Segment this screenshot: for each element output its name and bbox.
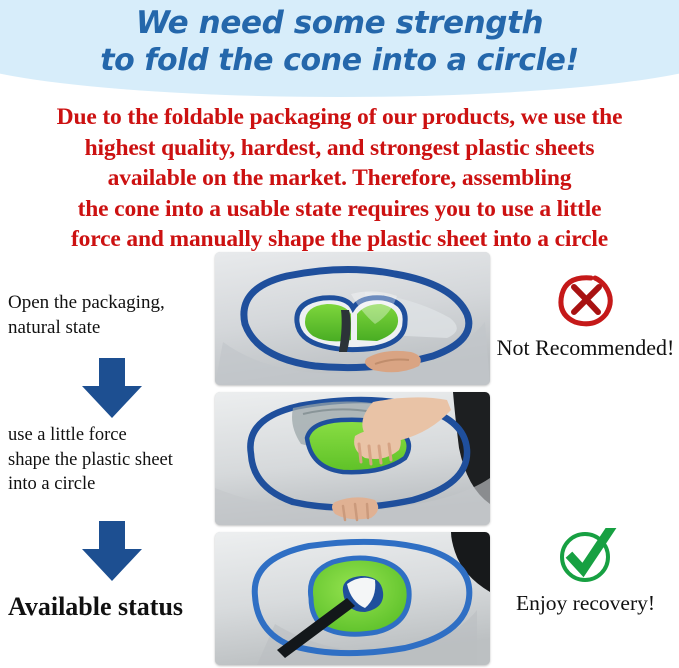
verdict-enjoy-recovery: Enjoy recovery!	[492, 528, 679, 617]
step-1-label-line-2: natural state	[8, 315, 213, 340]
verdict-not-recommended-label: Not Recommended!	[492, 334, 679, 361]
intro-line-3: available on the market. Therefore, asse…	[8, 163, 671, 194]
green-check-circle-icon	[555, 528, 617, 586]
step-1-photo	[215, 252, 490, 385]
page-title-line-2: to fold the cone into a circle!	[0, 42, 679, 80]
page-title: We need some strength to fold the cone i…	[0, 4, 679, 80]
intro-paragraph: Due to the foldable packaging of our pro…	[8, 102, 671, 255]
step-3-photo	[215, 532, 490, 665]
step-1-label-line-1: Open the packaging,	[8, 290, 213, 315]
header-banner: We need some strength to fold the cone i…	[0, 0, 679, 100]
step-2-label-line-2: shape the plastic sheet	[8, 448, 213, 473]
verdict-enjoy-recovery-label: Enjoy recovery!	[492, 590, 679, 617]
step-2-label-line-3: into a circle	[8, 472, 213, 497]
step-3-label-line-1: Available status	[8, 592, 213, 622]
page-title-line-1: We need some strength	[136, 5, 543, 41]
step-2-label-line-1: use a little force	[8, 423, 213, 448]
arrow-down-icon	[66, 521, 158, 583]
step-2-label: use a little force shape the plastic she…	[8, 423, 213, 497]
step-1-label: Open the packaging, natural state	[8, 290, 213, 340]
verdict-not-recommended: Not Recommended!	[492, 272, 679, 361]
intro-line-5: force and manually shape the plastic she…	[8, 224, 671, 255]
intro-line-4: the cone into a usable state requires yo…	[8, 194, 671, 225]
step-2-photo	[215, 392, 490, 525]
step-3-label: Available status	[8, 592, 213, 622]
arrow-down-icon	[66, 358, 158, 420]
intro-line-1: Due to the foldable packaging of our pro…	[8, 102, 671, 133]
red-x-circle-icon	[555, 272, 617, 330]
intro-line-2: highest quality, hardest, and strongest …	[8, 133, 671, 164]
